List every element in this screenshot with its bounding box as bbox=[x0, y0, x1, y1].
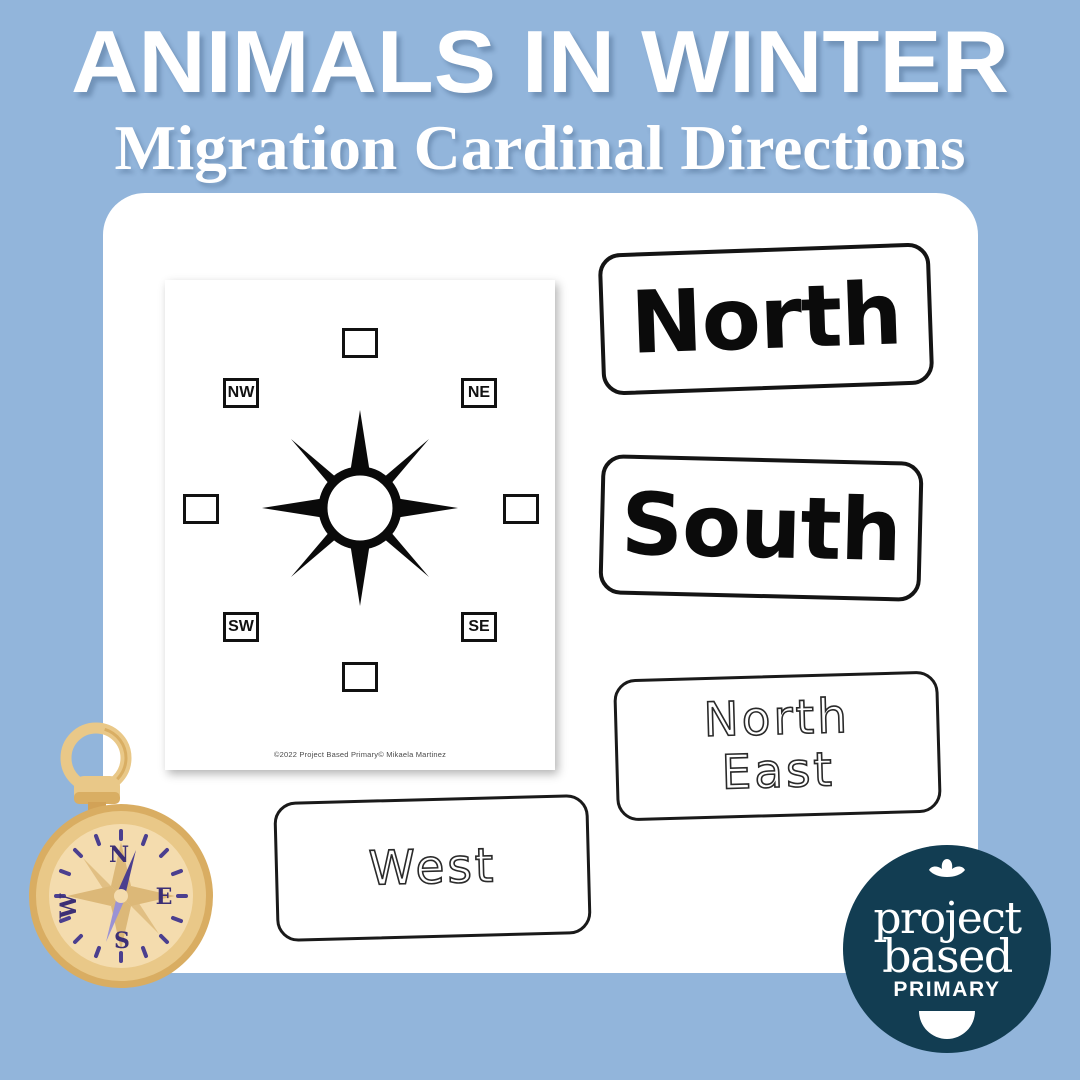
flashcard-north[interactable]: North bbox=[598, 242, 935, 396]
rose-box-north-west[interactable]: NW bbox=[223, 378, 259, 408]
rose-box-east[interactable] bbox=[503, 494, 539, 524]
compass-rose-diagram: NE SE SW NW bbox=[185, 322, 535, 714]
poster-canvas: ANIMALS IN WINTER Migration Cardinal Dir… bbox=[0, 0, 1080, 1080]
rose-box-south[interactable] bbox=[342, 662, 378, 692]
compass-label-north: N bbox=[109, 842, 129, 868]
compass-label-west: W bbox=[56, 893, 82, 919]
badge-line-3: PRIMARY bbox=[843, 979, 1051, 1000]
bowl-icon bbox=[919, 1011, 975, 1039]
badge-line-2: based bbox=[843, 933, 1051, 979]
rose-box-south-west[interactable]: SW bbox=[223, 612, 259, 642]
pocket-compass-illustration: N E S W bbox=[18, 718, 250, 990]
worksheet-page: NE SE SW NW ©2022 Project Based Primary©… bbox=[165, 280, 555, 770]
leaf-crown-icon bbox=[927, 859, 967, 885]
flashcard-north-east-line2: East bbox=[721, 744, 836, 800]
page-subtitle: Migration Cardinal Directions bbox=[0, 116, 1080, 180]
flashcard-north-east-traceable[interactable]: North East bbox=[613, 670, 942, 821]
flashcard-north-east-line1: North bbox=[703, 691, 851, 748]
flashcard-west-traceable[interactable]: West bbox=[273, 794, 592, 942]
rose-box-south-east[interactable]: SE bbox=[461, 612, 497, 642]
rose-box-north-east[interactable]: NE bbox=[461, 378, 497, 408]
flashcard-south-label: South bbox=[620, 482, 902, 575]
compass-rose-star-icon bbox=[260, 408, 460, 608]
page-title: ANIMALS IN WINTER bbox=[0, 18, 1080, 106]
brand-badge[interactable]: project based PRIMARY bbox=[843, 845, 1051, 1053]
flashcard-north-label: North bbox=[629, 271, 903, 366]
compass-label-east: E bbox=[156, 884, 173, 910]
rose-box-west[interactable] bbox=[183, 494, 219, 524]
flashcard-south[interactable]: South bbox=[598, 454, 923, 602]
flashcard-west-label: West bbox=[368, 840, 497, 896]
compass-label-south: S bbox=[114, 928, 130, 954]
rose-box-north[interactable] bbox=[342, 328, 378, 358]
